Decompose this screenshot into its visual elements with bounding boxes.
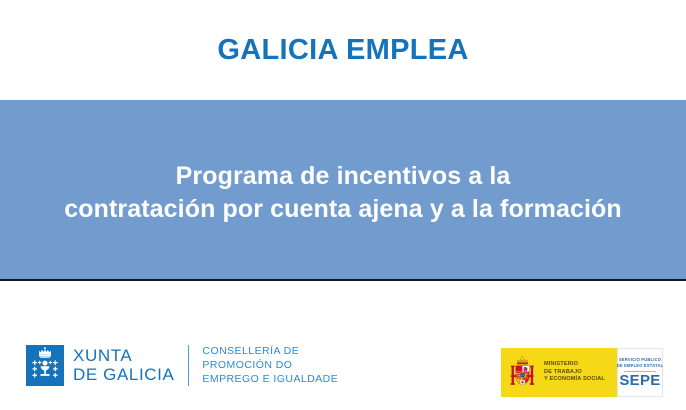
program-banner: Programa de incentivos a la contratación… [0,100,686,281]
xunta-de-galicia-logo: XUNTA DE GALICIA CONSELLERÍA DE PROMOCIÓ… [26,344,338,387]
xunta-wordmark: XUNTA DE GALICIA [73,346,174,385]
logo-divider [188,345,189,386]
banner-line-1: Programa de incentivos a la [0,160,686,193]
conselleria-line-2: PROMOCIÓN DO [202,358,338,372]
conselleria-line-1: CONSELLERÍA DE [202,344,338,358]
xunta-wordmark-line-2: DE GALICIA [73,365,174,385]
conselleria-line-3: EMPREGO E IGUALDADE [202,372,338,386]
sepe-tagline: SERVICIO PÚBLICO DE EMPLEO ESTATAL [617,357,664,369]
banner-line-2: contratación por cuenta ajena y a la for… [0,193,686,226]
ministerio-de-trabajo-logo: MINISTERIO DE TRABAJO Y ECONOMÍA SOCIAL [501,348,617,397]
ministerio-wordmark: MINISTERIO DE TRABAJO Y ECONOMÍA SOCIAL [544,361,605,385]
sepe-logo: SERVICIO PÚBLICO DE EMPLEO ESTATAL SEPE [617,348,663,397]
conselleria-wordmark: CONSELLERÍA DE PROMOCIÓN DO EMPREGO E IG… [202,344,338,387]
xunta-wordmark-line-1: XUNTA [73,346,174,366]
page-title: GALICIA EMPLEA [217,36,468,65]
header-zone: GALICIA EMPLEA [0,0,686,100]
xunta-coat-of-arms-icon [26,345,64,386]
ministerio-line-3: Y ECONOMÍA SOCIAL [544,376,605,384]
sepe-tagline-line-2: DE EMPLEO ESTATAL [617,363,664,369]
footer-zone: XUNTA DE GALICIA CONSELLERÍA DE PROMOCIÓ… [0,283,686,410]
ministerio-line-1: MINISTERIO [544,361,605,369]
sepe-acronym: SEPE [619,373,660,388]
spain-coat-of-arms-icon [506,354,539,392]
banner-text-block: Programa de incentivos a la contratación… [0,154,686,225]
